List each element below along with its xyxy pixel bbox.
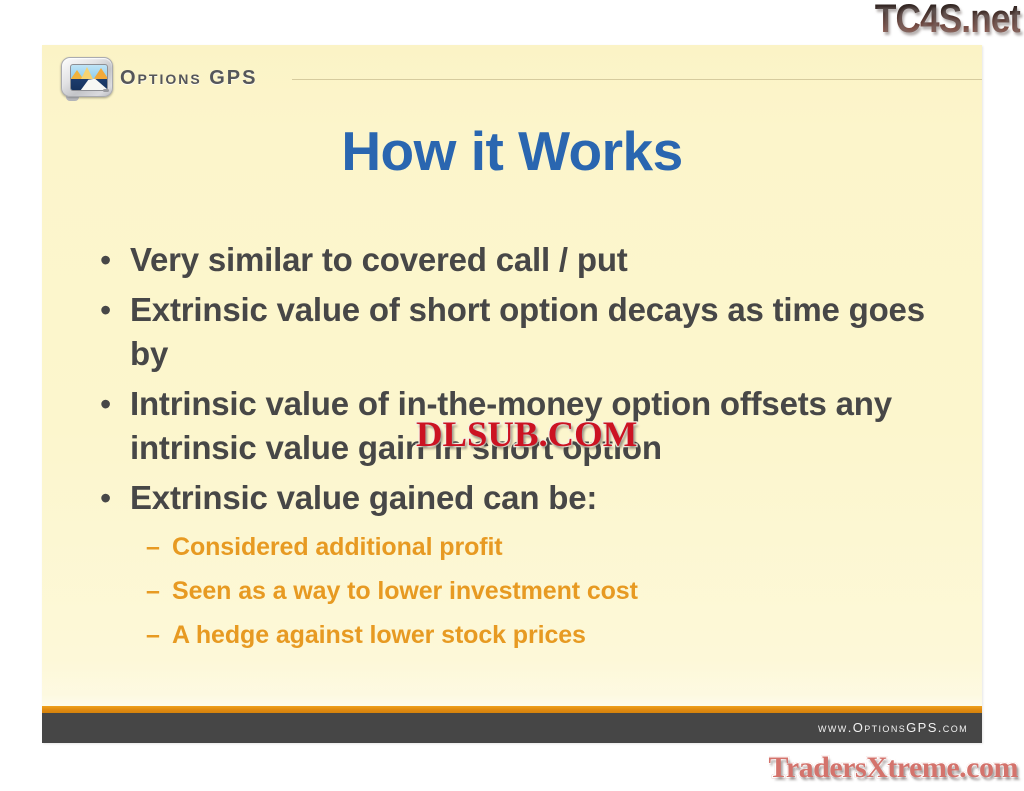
bullet-text: Extrinsic value of short option decays a… [130,288,930,376]
bullet-marker-icon: • [94,288,130,332]
sub-list-item: – A hedge against lower stock prices [146,616,952,654]
footer-fade [42,677,982,707]
slide-footer: www.OptionsGPS.com [42,713,982,743]
gps-body [61,57,113,97]
bullet-marker-icon: • [94,238,130,282]
sub-bullet-text: Considered additional profit [172,528,503,566]
footer-accent-bar [42,706,982,713]
gps-device-icon [61,57,113,101]
brand-name: Options GPS [120,67,257,90]
bullet-text: Extrinsic value gained can be: [130,476,597,520]
bullet-text: Very similar to covered call / put [130,238,628,282]
header-divider [292,79,982,80]
list-item: • Extrinsic value of short option decays… [94,288,952,376]
bullet-marker-icon: • [94,476,130,520]
sub-bullet-text: A hedge against lower stock prices [172,616,586,654]
tc4s-watermark: TC4S.net [874,0,1020,40]
gps-screen [70,64,108,91]
list-item: • Extrinsic value gained can be: [94,476,952,520]
tradersxtreme-watermark: TradersXtreme.com [769,751,1018,785]
sub-list-item: – Seen as a way to lower investment cost [146,572,952,610]
dash-marker-icon: – [146,528,172,566]
page-title: How it Works [42,123,982,181]
sub-bullet-list: – Considered additional profit – Seen as… [146,528,952,654]
gps-button-icon [103,89,109,92]
slide-header: Options GPS [42,45,982,107]
sub-list-item: – Considered additional profit [146,528,952,566]
dash-marker-icon: – [146,616,172,654]
footer-url: www.OptionsGPS.com [818,720,968,735]
dlsub-watermark: DLSUB.COM [416,413,637,455]
sub-bullet-text: Seen as a way to lower investment cost [172,572,638,610]
presentation-slide: Options GPS How it Works • Very similar … [42,45,982,743]
bullet-marker-icon: • [94,382,130,426]
dash-marker-icon: – [146,572,172,610]
list-item: • Very similar to covered call / put [94,238,952,282]
